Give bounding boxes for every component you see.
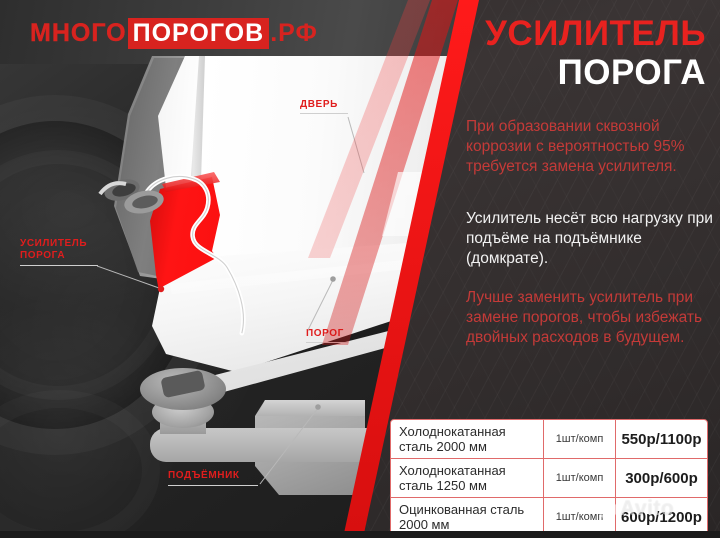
callout-door: ДВЕРЬ — [300, 99, 348, 114]
callout-reinforcement-label-line2: ПОРОГА — [20, 250, 98, 262]
callout-lift-label: ПОДЪЁМНИК — [168, 470, 258, 482]
table-cell-quantity: 1шт/комп — [543, 420, 616, 458]
paragraph-load: Усилитель несёт всю нагрузку при подъёме… — [466, 209, 716, 269]
sill-clip-detail — [96, 168, 186, 228]
table-row: Холоднокатанная сталь 2000 мм 1шт/комп 5… — [391, 420, 707, 459]
page-title-line1: УСИЛИТЕЛЬ — [386, 16, 706, 51]
site-logo: МНОГО ПОРОГОВ .РФ — [30, 18, 318, 49]
price-table: Холоднокатанная сталь 2000 мм 1шт/комп 5… — [390, 419, 708, 537]
page-title-line2: ПОРОГА — [386, 55, 706, 90]
logo-text-mnogo: МНОГО — [30, 19, 127, 48]
page-title: УСИЛИТЕЛЬ ПОРОГА — [386, 16, 706, 90]
logo-text-porogov: ПОРОГОВ — [128, 18, 270, 49]
bottom-strip — [0, 531, 720, 538]
table-row: Холоднокатанная сталь 1250 мм 1шт/комп 3… — [391, 459, 707, 498]
callout-reinforcement-label-line1: УСИЛИТЕЛЬ — [20, 238, 98, 250]
callout-door-label: ДВЕРЬ — [300, 99, 348, 111]
promo-banner: ДВЕРЬ УСИЛИТЕЛЬ ПОРОГА ПОРОГ ПОДЪЁМНИК — [0, 0, 720, 538]
table-cell-material: Холоднокатанная сталь 1250 мм — [391, 459, 543, 497]
table-cell-quantity: 1шт/комп — [543, 459, 616, 497]
callout-reinforcement-rule — [20, 265, 98, 266]
paragraph-corrosion: При образовании сквозной коррозии с веро… — [466, 117, 716, 177]
callout-reinforcement-leader — [97, 264, 167, 300]
table-cell-price: 300р/600р — [616, 459, 707, 497]
callout-door-rule — [300, 113, 348, 114]
callout-lift-leader — [256, 404, 332, 488]
logo-text-rf: .РФ — [270, 19, 318, 48]
paragraph-advice: Лучше заменить усилитель при замене поро… — [466, 288, 716, 348]
table-cell-material: Холоднокатанная сталь 2000 мм — [391, 420, 543, 458]
callout-reinforcement: УСИЛИТЕЛЬ ПОРОГА — [20, 238, 98, 266]
callout-lift: ПОДЪЁМНИК — [168, 470, 258, 486]
table-cell-price: 550р/1100р — [616, 420, 707, 458]
callout-lift-rule — [168, 485, 258, 486]
